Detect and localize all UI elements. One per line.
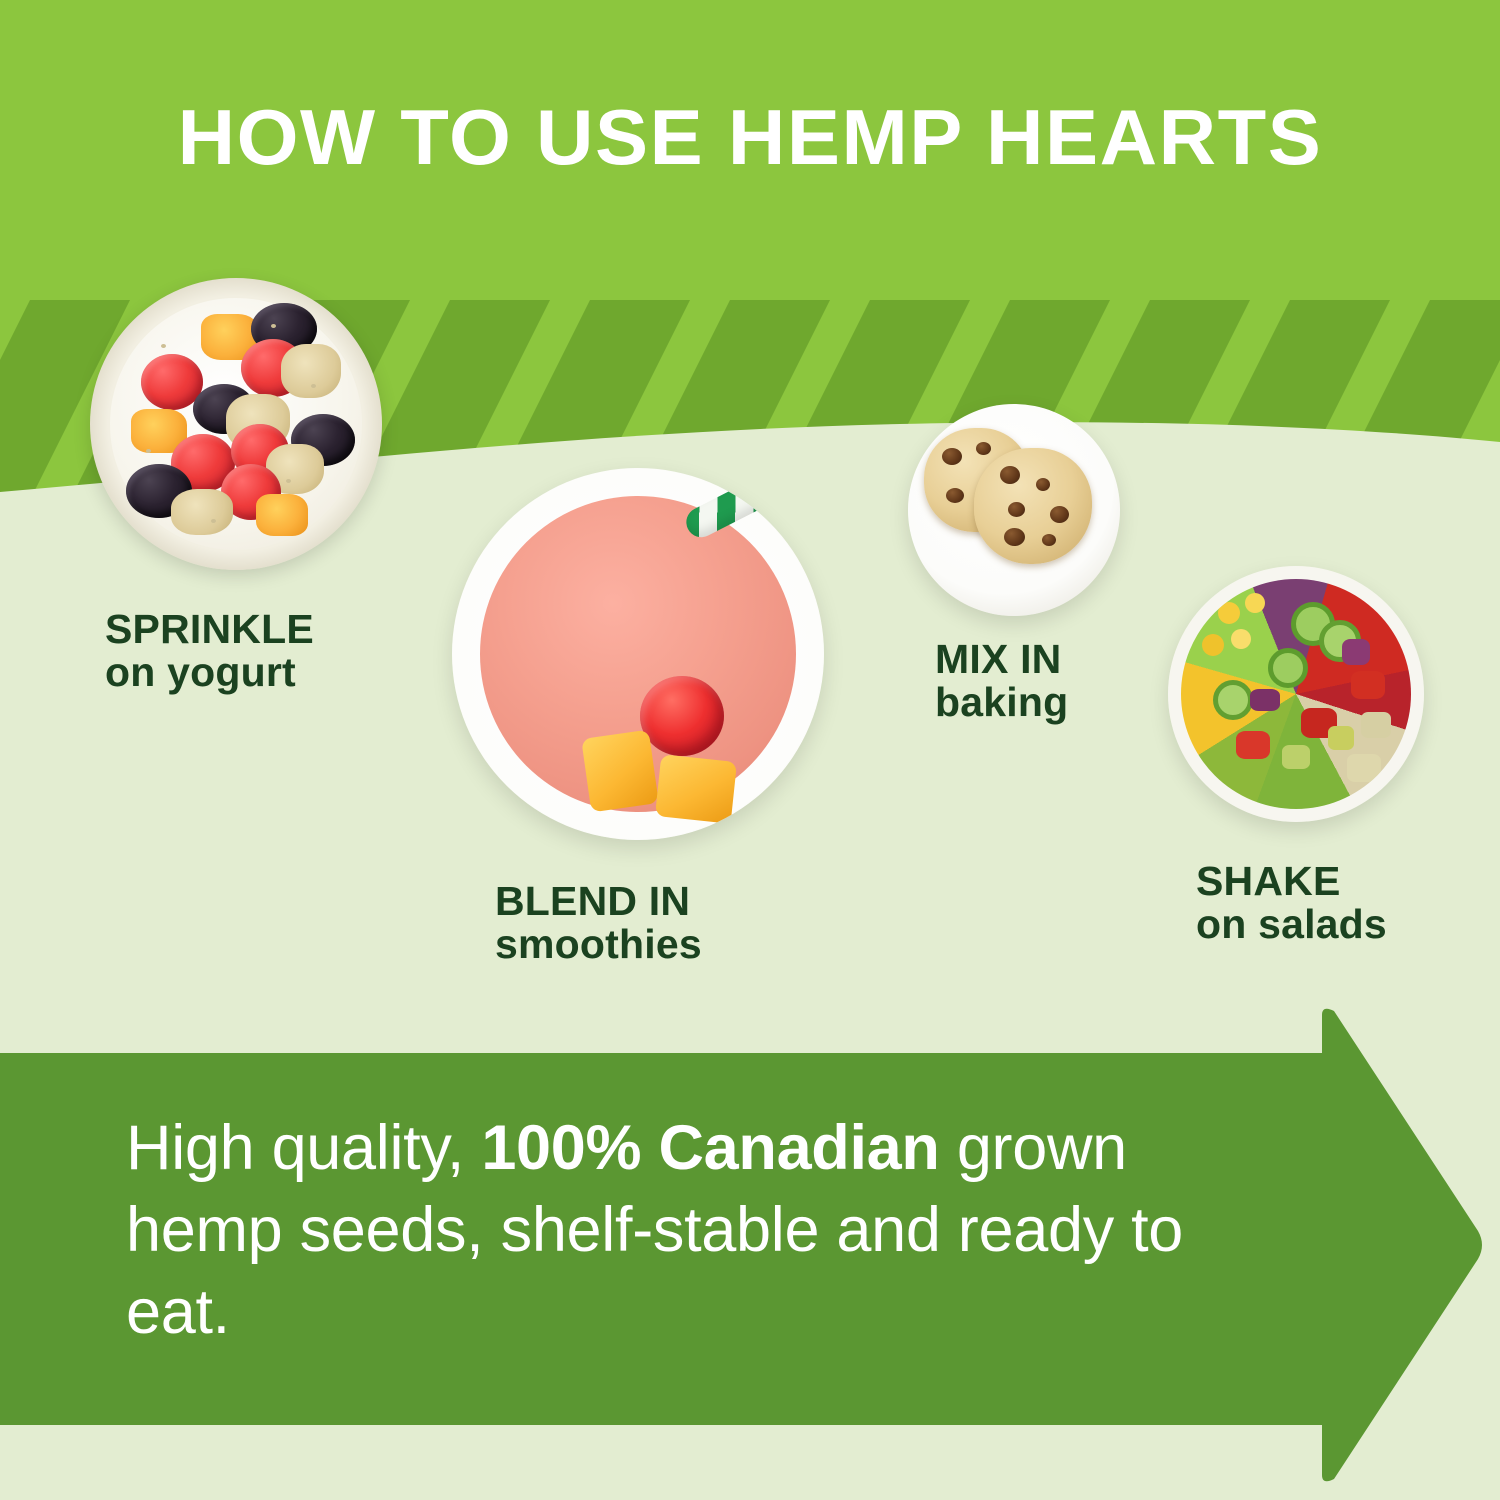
- smoothie-surface: [480, 496, 796, 812]
- banner-text-bold: 100% Canadian: [481, 1113, 939, 1183]
- granola-cluster: [171, 489, 233, 535]
- cookie-front: [974, 448, 1092, 564]
- mango-cube: [655, 754, 737, 824]
- banner-text-plain-1: High quality,: [126, 1113, 481, 1183]
- granola-cluster: [281, 344, 341, 398]
- smoothie-bowl-photo: [452, 468, 824, 840]
- mango-cube: [581, 730, 659, 813]
- raspberry-garnish: [640, 676, 724, 756]
- step-action-mix: MIX IN: [935, 638, 1068, 681]
- step-label-blend: BLEND IN smoothies: [495, 880, 702, 967]
- cookie-plate-photo: [908, 404, 1120, 616]
- page-title: HOW TO USE HEMP HEARTS: [0, 98, 1500, 176]
- step-label-shake: SHAKE on salads: [1196, 860, 1387, 947]
- infographic-canvas: HOW TO USE HEMP HEARTS: [0, 0, 1500, 1500]
- step-target-sprinkle: on yogurt: [105, 651, 314, 694]
- step-action-blend: BLEND IN: [495, 880, 702, 923]
- step-target-shake: on salads: [1196, 903, 1387, 946]
- step-label-mix: MIX IN baking: [935, 638, 1068, 725]
- step-label-sprinkle: SPRINKLE on yogurt: [105, 608, 314, 695]
- salad-bowl-photo: [1168, 566, 1424, 822]
- step-target-mix: baking: [935, 681, 1068, 724]
- salad-surface: [1181, 579, 1411, 809]
- yogurt-bowl-photo: [90, 278, 382, 570]
- step-action-shake: SHAKE: [1196, 860, 1387, 903]
- mango-piece: [256, 494, 308, 536]
- step-target-blend: smoothies: [495, 923, 702, 966]
- step-action-sprinkle: SPRINKLE: [105, 608, 314, 651]
- banner-statement: High quality, 100% Canadian grown hemp s…: [126, 1108, 1266, 1354]
- yogurt-surface: [110, 298, 361, 549]
